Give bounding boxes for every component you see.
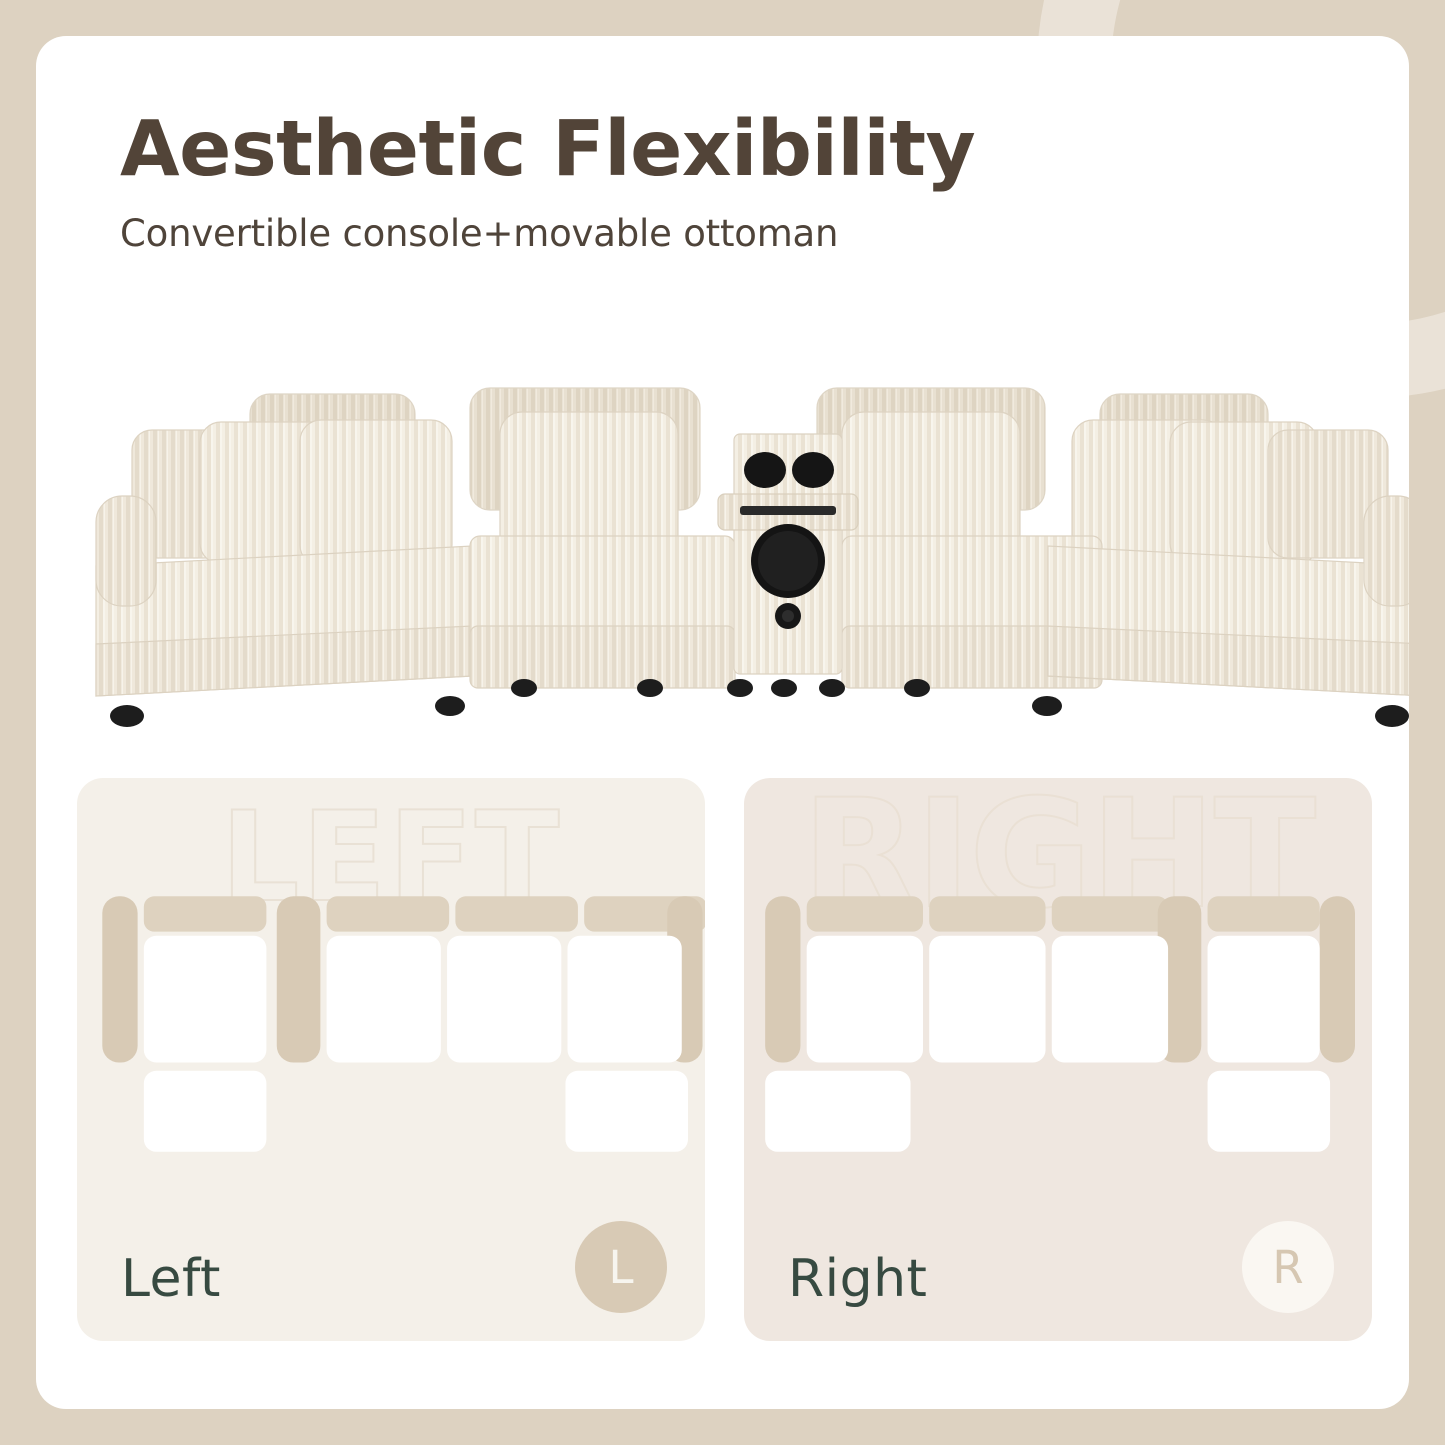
sofa-product-image [72, 376, 1409, 776]
module-back [929, 896, 1045, 931]
module-back [1208, 896, 1320, 931]
module-ottoman [1208, 1071, 1331, 1152]
module-arm [277, 896, 321, 1062]
module-seat [929, 936, 1045, 1063]
content-card: Aesthetic Flexibility Convertible consol… [36, 36, 1409, 1409]
module-back [1052, 896, 1168, 931]
module-layout-right [744, 888, 1372, 1158]
module-seat [1208, 936, 1320, 1063]
module-seat [327, 936, 441, 1063]
module-seat [144, 936, 267, 1063]
module-back [807, 896, 923, 931]
cup-holder-left [744, 452, 786, 488]
outer-frame: Aesthetic Flexibility Convertible consol… [0, 0, 1445, 1445]
page-title: Aesthetic Flexibility [120, 110, 1120, 191]
panel-label-right: Right [788, 1253, 927, 1305]
module-back [455, 896, 578, 931]
module-seat [807, 936, 923, 1063]
configuration-panels: LEFT [77, 778, 1372, 1341]
cup-holder-right [792, 452, 834, 488]
module-ottoman [765, 1071, 910, 1152]
module-seat [568, 936, 682, 1063]
badge-left[interactable]: L [575, 1221, 667, 1313]
module-back [327, 896, 450, 931]
module-seat [447, 936, 561, 1063]
panel-right-configuration[interactable]: RIGHT [744, 778, 1372, 1341]
module-layout-left [77, 888, 705, 1158]
layout-diagram-left [77, 888, 705, 1158]
badge-right[interactable]: R [1242, 1221, 1334, 1313]
heading-block: Aesthetic Flexibility Convertible consol… [120, 110, 1120, 255]
sofa-illustration [72, 376, 1409, 776]
page-subtitle: Convertible console+movable ottoman [120, 212, 1120, 255]
module-arm [1320, 896, 1355, 1062]
panel-left-configuration[interactable]: LEFT [77, 778, 705, 1341]
module-back [144, 896, 267, 931]
layout-diagram-right [744, 888, 1372, 1158]
center-console [718, 434, 858, 674]
module-ottoman [565, 1071, 688, 1152]
module-seat [1052, 936, 1168, 1063]
sofa-legs [110, 679, 1409, 727]
panel-label-left: Left [121, 1253, 221, 1305]
module-arm [765, 896, 800, 1062]
module-ottoman [144, 1071, 267, 1152]
console-control-panel [740, 506, 836, 515]
module-arm [102, 896, 137, 1062]
